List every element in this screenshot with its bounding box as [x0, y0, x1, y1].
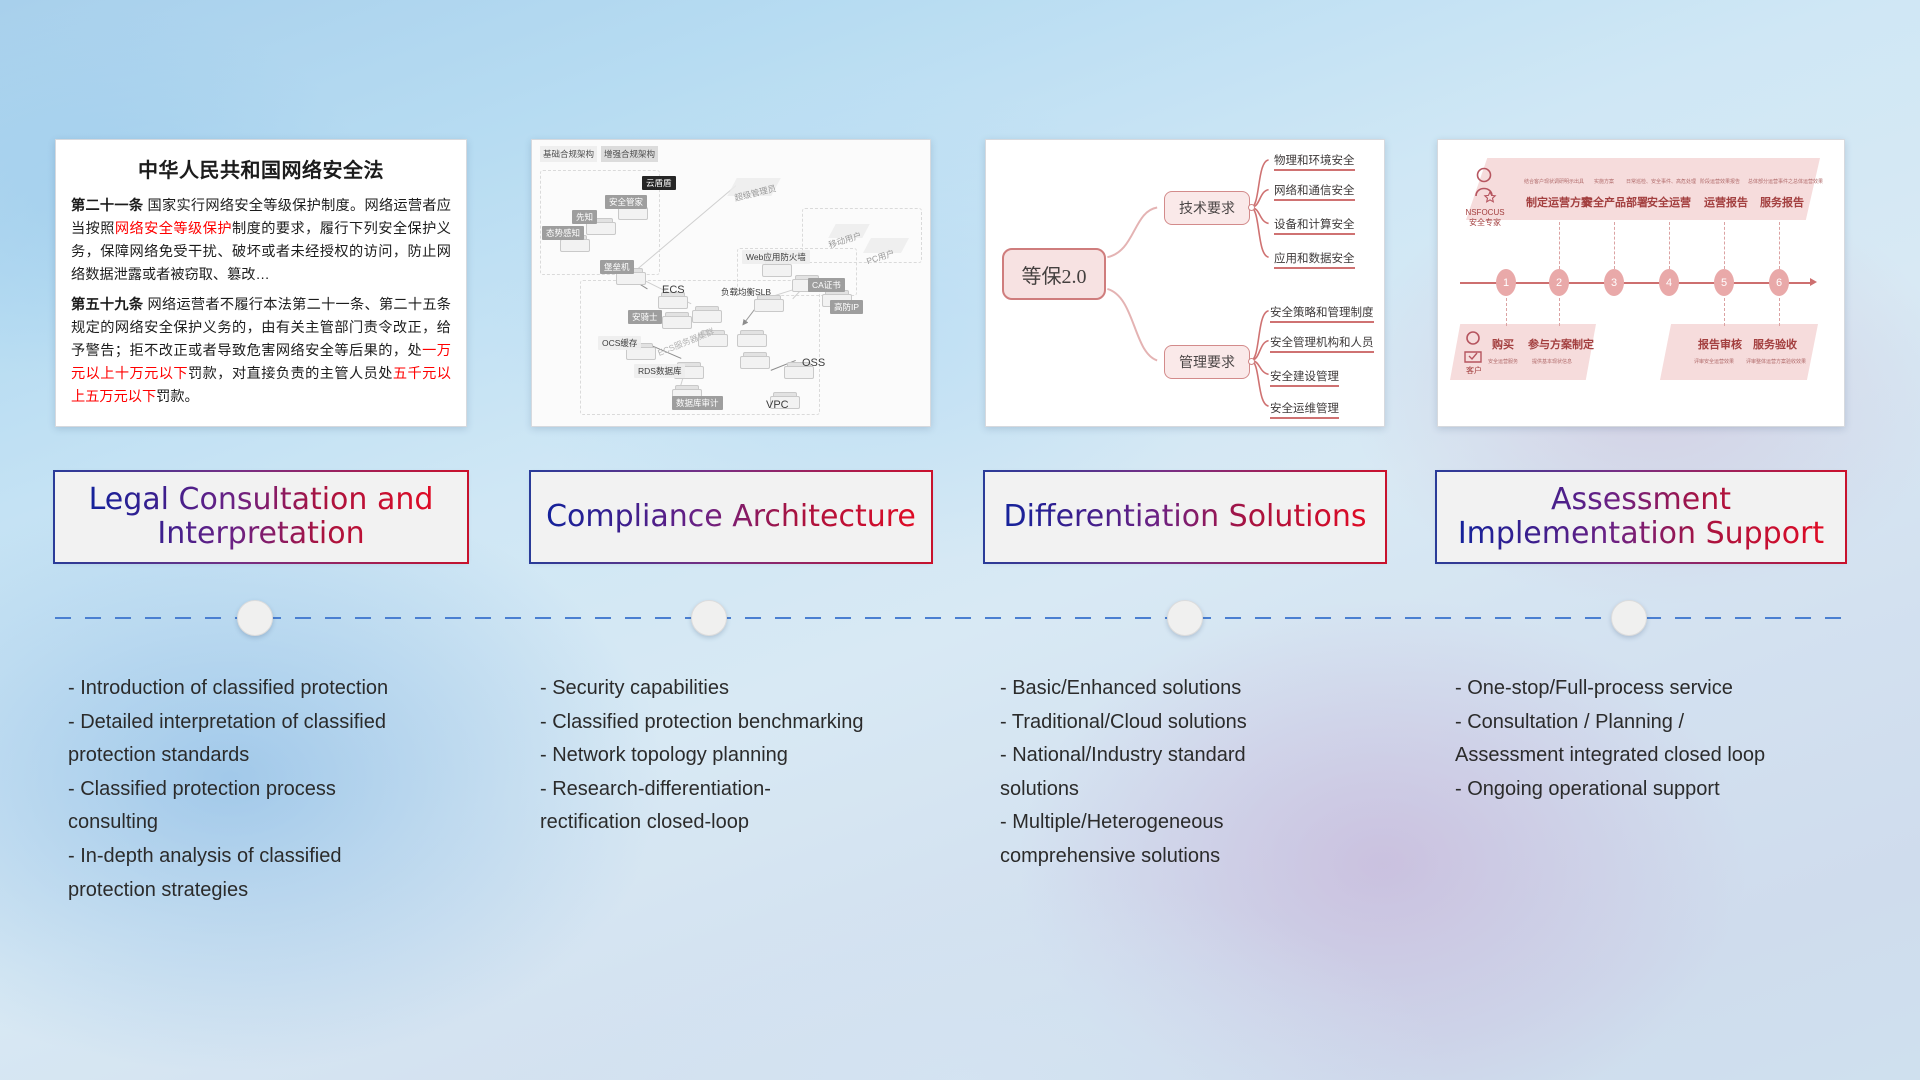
arch-label-prophet: 先知 — [572, 210, 597, 224]
arch-label-security-butler: 安全管家 — [605, 195, 647, 209]
rail-node-3[interactable] — [1167, 600, 1203, 636]
title-text-compliance-architecture: Compliance Architecture — [546, 500, 916, 534]
title-text-assessment-support: Assessment Implementation Support — [1458, 483, 1824, 550]
timeline-stem-5-down — [1724, 298, 1725, 326]
timeline-top-title-5: 服务报告 — [1760, 194, 1804, 210]
arch-label-ecs: ECS — [658, 283, 689, 297]
timeline-top-sub-1: 结合客户现状调研明示出具 — [1524, 178, 1584, 185]
timeline-stem-4 — [1669, 222, 1670, 269]
timeline-stem-6-down — [1779, 298, 1780, 326]
mindmap-knob-management[interactable] — [1248, 358, 1255, 365]
timeline-stem-2 — [1559, 222, 1560, 269]
timeline-stem-3 — [1614, 222, 1615, 269]
customer-avatar-icon — [1460, 330, 1486, 366]
article-59-text-b: 罚款，对直接负责的主管人员处 — [188, 366, 393, 382]
law-heading: 中华人民共和国网络安全法 — [71, 154, 451, 183]
timeline-band-customer-right — [1660, 324, 1818, 380]
bullet-block-compliance-architecture: - Security capabilities - Classified pro… — [540, 672, 932, 840]
title-text-differentiation-solutions: Differentiation Solutions — [1003, 500, 1366, 534]
arch-node-agent — [662, 312, 692, 332]
mindmap-leaf-mgmt-1: 安全策略和管理制度 — [1270, 304, 1374, 323]
mindmap-leaf-mgmt-2: 安全管理机构和人员 — [1270, 334, 1374, 353]
timeline-band-provider — [1466, 158, 1820, 220]
arch-label-rds-database: RDS数据库 — [634, 364, 685, 378]
timeline-persona-customer: 客户 — [1456, 366, 1492, 376]
slide-stage: 中华人民共和国网络安全法 第二十一条 国家实行网络安全等级保护制度。网络运营者应… — [0, 0, 1920, 1080]
arch-label-agent: 安骑士 — [628, 310, 662, 324]
article-21-label: 第二十一条 — [71, 198, 143, 214]
timeline-top-sub-2: 实施方案 — [1594, 178, 1614, 185]
arch-label-ocs-cache: OCS缓存 — [598, 336, 641, 350]
title-box-differentiation-solutions[interactable]: Differentiation Solutions — [985, 472, 1385, 562]
bullet-block-legal-consultation: - Introduction of classified protection … — [68, 672, 468, 907]
timeline-step-1[interactable]: 1 — [1496, 269, 1516, 296]
timeline-stem-6 — [1779, 222, 1780, 269]
timeline-persona-expert: NSFOCUS 安全专家 — [1456, 208, 1514, 228]
timeline-step-2[interactable]: 2 — [1549, 269, 1569, 296]
arch-label-anti-ddos-ip: 高防IP — [830, 300, 863, 314]
timeline-top-sub-4: 阶段运营效果报告 — [1700, 178, 1740, 185]
mindmap-leaf-mgmt-3: 安全建设管理 — [1270, 368, 1339, 387]
timeline-step-3[interactable]: 3 — [1604, 269, 1624, 296]
rail-node-2[interactable] — [691, 600, 727, 636]
title-text-legal-consultation: Legal Consultation and Interpretation — [89, 483, 434, 550]
arch-label-oss: OSS — [798, 356, 829, 370]
article-21-highlight: 网络安全等级保护 — [115, 221, 232, 237]
architecture-diagram: 基础合规架构 增强合规架构 — [532, 140, 930, 426]
timeline-bottom-sub-3: 评审安全运营效果 — [1694, 358, 1734, 365]
mindmap-leaf-tech-1: 物理和环境安全 — [1274, 152, 1355, 171]
mindmap-branch-management: 管理要求 — [1164, 345, 1250, 379]
arch-label-waf: Web应用防火墙 — [742, 250, 810, 264]
timeline-stem-2-down — [1559, 298, 1560, 326]
timeline-top-title-4: 运营报告 — [1704, 194, 1748, 210]
mindmap-diagram: 等保2.0 技术要求 物理和环境安全 网络和通信安全 设备和计算安全 应用和数据… — [986, 140, 1384, 426]
arch-label-bastion-host: 堡垒机 — [600, 260, 634, 274]
article-59-text-c: 罚款。 — [156, 389, 199, 405]
timeline-top-sub-3: 日常巡检、安全事件、高危处理 — [1626, 178, 1696, 185]
thumbnail-card-architecture[interactable]: 基础合规架构 增强合规架构 — [531, 139, 931, 427]
mindmap-root-node: 等保2.0 — [1002, 248, 1106, 300]
law-article-21: 第二十一条 国家实行网络安全等级保护制度。网络运营者应当按照网络安全等级保护制度… — [71, 195, 451, 287]
arch-node-ecs-b — [692, 306, 722, 326]
bullet-list-assessment-support: - One-stop/Full-process service - Consul… — [1455, 672, 1855, 806]
mindmap-branch-technical: 技术要求 — [1164, 191, 1250, 225]
mindmap-leaf-tech-3: 设备和计算安全 — [1274, 216, 1355, 235]
expert-avatar-icon — [1470, 166, 1498, 210]
title-box-assessment-support[interactable]: Assessment Implementation Support — [1437, 472, 1845, 562]
timeline-bottom-title-1: 购买 — [1492, 336, 1514, 352]
arch-node-ecs-d — [737, 330, 767, 350]
rail-node-1[interactable] — [237, 600, 273, 636]
timeline-bottom-title-3: 报告审核 — [1698, 336, 1742, 352]
mindmap-leaf-mgmt-4: 安全运维管理 — [1270, 400, 1339, 419]
title-box-legal-consultation[interactable]: Legal Consultation and Interpretation — [55, 472, 467, 562]
timeline-bottom-title-2: 参与方案制定 — [1528, 336, 1594, 352]
arch-node-ecs-e — [740, 352, 770, 372]
thumbnail-card-service-timeline[interactable]: NSFOCUS 安全专家 客户 1 2 3 4 5 6 — [1437, 139, 1845, 427]
timeline-bottom-sub-1: 安全运营服务 — [1488, 358, 1518, 365]
timeline-step-4[interactable]: 4 — [1659, 269, 1679, 296]
timeline-bottom-sub-2: 提供基本现状信息 — [1532, 358, 1572, 365]
service-timeline-diagram: NSFOCUS 安全专家 客户 1 2 3 4 5 6 — [1438, 140, 1844, 426]
article-59-label: 第五十九条 — [71, 297, 143, 313]
bullet-block-assessment-support: - One-stop/Full-process service - Consul… — [1455, 672, 1855, 806]
bullet-list-compliance-architecture: - Security capabilities - Classified pro… — [540, 672, 932, 840]
arch-label-vpc: VPC — [762, 398, 793, 412]
bullet-list-differentiation-solutions: - Basic/Enhanced solutions - Traditional… — [1000, 672, 1392, 874]
arch-label-cloud-shield: 云盾盾 — [642, 176, 676, 190]
mindmap-leaf-tech-4: 应用和数据安全 — [1274, 250, 1355, 269]
timeline-top-sub-5: 总体部分运营事件之总体运营效果 — [1748, 178, 1823, 185]
timeline-bottom-title-4: 服务验收 — [1753, 336, 1797, 352]
arch-label-slb: 负载均衡SLB — [717, 285, 775, 299]
law-article-59: 第五十九条 网络运营者不履行本法第二十一条、第二十五条规定的网络安全保护义务的，… — [71, 294, 451, 409]
thumbnail-card-mindmap[interactable]: 等保2.0 技术要求 物理和环境安全 网络和通信安全 设备和计算安全 应用和数据… — [985, 139, 1385, 427]
thumbnail-card-legal-text[interactable]: 中华人民共和国网络安全法 第二十一条 国家实行网络安全等级保护制度。网络运营者应… — [55, 139, 467, 427]
mindmap-knob-technical[interactable] — [1248, 204, 1255, 211]
arch-label-situation-awareness: 态势感知 — [542, 226, 584, 240]
timeline-stem-5 — [1724, 222, 1725, 269]
law-document: 中华人民共和国网络安全法 第二十一条 国家实行网络安全等级保护制度。网络运营者应… — [56, 140, 466, 426]
timeline-step-6[interactable]: 6 — [1769, 269, 1789, 296]
timeline-step-5[interactable]: 5 — [1714, 269, 1734, 296]
timeline-bottom-sub-4: 评审整体运营方案验收效果 — [1746, 358, 1806, 365]
title-box-compliance-architecture[interactable]: Compliance Architecture — [531, 472, 931, 562]
rail-node-4[interactable] — [1611, 600, 1647, 636]
timeline-top-title-3: 安全运营 — [1647, 194, 1691, 210]
arch-label-ca-certificate: CA证书 — [808, 278, 845, 292]
timeline-arrow-icon — [1810, 278, 1817, 286]
timeline-dashed-rail — [55, 617, 1845, 619]
bullet-list-legal-consultation: - Introduction of classified protection … — [68, 672, 468, 907]
mindmap-leaf-tech-2: 网络和通信安全 — [1274, 182, 1355, 201]
bullet-block-differentiation-solutions: - Basic/Enhanced solutions - Traditional… — [1000, 672, 1392, 874]
arch-label-database-audit: 数据库审计 — [672, 396, 723, 410]
timeline-top-title-2: 安全产品部署 — [1582, 194, 1648, 210]
timeline-stem-1-down — [1506, 298, 1507, 326]
